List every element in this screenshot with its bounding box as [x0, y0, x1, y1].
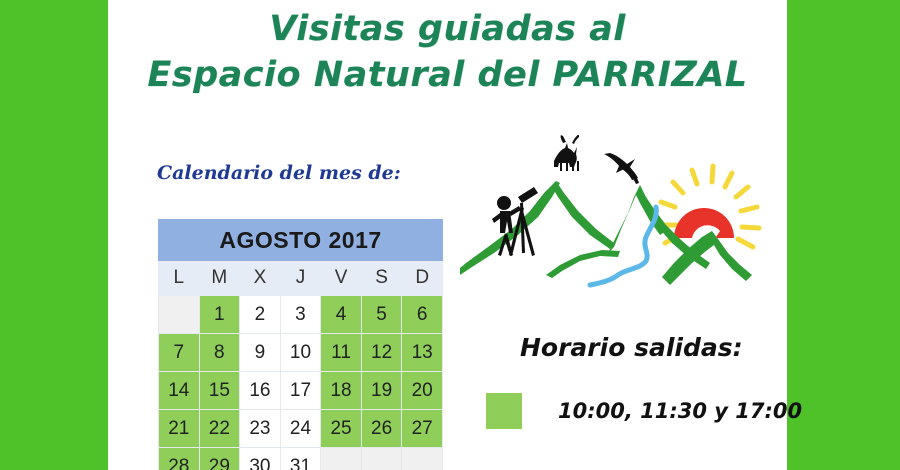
calendar-empty-cell — [159, 296, 200, 334]
poster-root: Visitas guiadas al Espacio Natural del P… — [0, 0, 900, 470]
calendar-day-cell[interactable]: 6 — [402, 296, 443, 334]
weekday-header-s: S — [361, 261, 402, 296]
schedule-heading: Horario salidas: — [520, 333, 743, 362]
calendar-day-cell[interactable]: 14 — [159, 372, 200, 410]
calendar-day-cell[interactable]: 28 — [159, 448, 200, 470]
schedule-times: 10:00, 11:30 y 17:00 — [558, 399, 802, 423]
month-calendar: AGOSTO 2017 L M X J V S D 12345678910111… — [158, 219, 443, 470]
calendar-week-row: 21222324252627 — [159, 410, 443, 448]
right-green-bar — [787, 0, 900, 470]
page-title: Visitas guiadas al Espacio Natural del P… — [108, 6, 787, 98]
calendar-week-row: 14151617181920 — [159, 372, 443, 410]
calendar-body: 1234567891011121314151617181920212223242… — [159, 296, 443, 470]
calendar-day-cell[interactable]: 5 — [361, 296, 402, 334]
calendar-day-cell[interactable]: 15 — [199, 372, 240, 410]
calendar-day-cell[interactable]: 7 — [159, 334, 200, 372]
calendar-day-cell[interactable]: 10 — [280, 334, 321, 372]
calendar-day-cell[interactable]: 18 — [321, 372, 362, 410]
eagle-icon — [604, 153, 639, 184]
calendar-title-row: AGOSTO 2017 — [159, 220, 443, 261]
schedule-legend: 10:00, 11:30 y 17:00 — [486, 393, 802, 429]
calendar-week-row: 123456 — [159, 296, 443, 334]
calendar-day-cell[interactable]: 8 — [199, 334, 240, 372]
calendar-week-row: 78910111213 — [159, 334, 443, 372]
legend-green-swatch — [486, 393, 522, 429]
calendar-day-cell[interactable]: 30 — [240, 448, 281, 470]
calendar-day-cell[interactable]: 19 — [361, 372, 402, 410]
calendar-day-cell[interactable]: 9 — [240, 334, 281, 372]
title-line-2: Espacio Natural del PARRIZAL — [108, 52, 787, 98]
weekday-header-x: X — [240, 261, 281, 296]
title-line-1: Visitas guiadas al — [108, 6, 787, 52]
calendar-empty-cell — [321, 448, 362, 470]
content-stage: Visitas guiadas al Espacio Natural del P… — [108, 0, 787, 470]
calendar-day-cell[interactable]: 1 — [199, 296, 240, 334]
calendar-day-cell[interactable]: 13 — [402, 334, 443, 372]
calendar-caption: Calendario del mes de: — [157, 162, 401, 184]
calendar-day-cell[interactable]: 3 — [280, 296, 321, 334]
calendar-empty-cell — [402, 448, 443, 470]
weekday-header-j: J — [280, 261, 321, 296]
calendar-day-cell[interactable]: 2 — [240, 296, 281, 334]
calendar-day-cell[interactable]: 24 — [280, 410, 321, 448]
weekday-header-m: M — [199, 261, 240, 296]
calendar-day-cell[interactable]: 27 — [402, 410, 443, 448]
calendar-day-cell[interactable]: 12 — [361, 334, 402, 372]
weekday-header-l: L — [159, 261, 200, 296]
calendar-day-cell[interactable]: 11 — [321, 334, 362, 372]
calendar-empty-cell — [361, 448, 402, 470]
calendar-day-cell[interactable]: 20 — [402, 372, 443, 410]
calendar-day-cell[interactable]: 25 — [321, 410, 362, 448]
parrizal-nature-logo — [460, 135, 770, 295]
calendar-day-cell[interactable]: 21 — [159, 410, 200, 448]
river-icon — [590, 207, 656, 285]
calendar-day-cell[interactable]: 31 — [280, 448, 321, 470]
calendar-day-cell[interactable]: 29 — [199, 448, 240, 470]
calendar-day-cell[interactable]: 4 — [321, 296, 362, 334]
calendar-day-cell[interactable]: 16 — [240, 372, 281, 410]
calendar-day-cell[interactable]: 17 — [280, 372, 321, 410]
calendar-month-title: AGOSTO 2017 — [159, 220, 443, 261]
weekday-header-v: V — [321, 261, 362, 296]
calendar-weekday-row: L M X J V S D — [159, 261, 443, 296]
calendar-week-row: 28293031 — [159, 448, 443, 470]
calendar-day-cell[interactable]: 26 — [361, 410, 402, 448]
calendar-day-cell[interactable]: 23 — [240, 410, 281, 448]
calendar-day-cell[interactable]: 22 — [199, 410, 240, 448]
weekday-header-d: D — [402, 261, 443, 296]
ibex-icon — [554, 135, 579, 171]
left-green-bar — [0, 0, 108, 470]
